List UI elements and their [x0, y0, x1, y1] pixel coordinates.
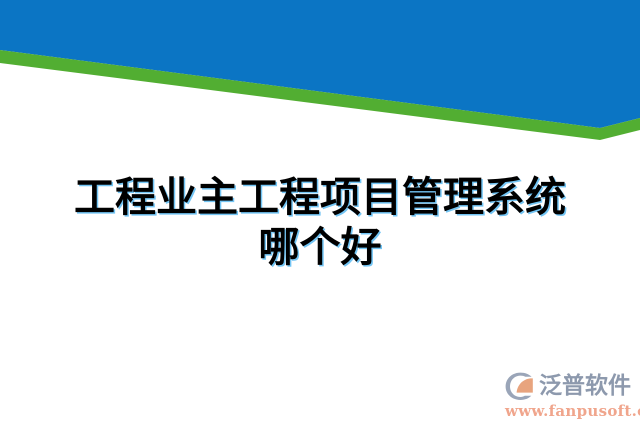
diagonal-banner	[0, 0, 640, 160]
title-line-2: 哪个好	[0, 222, 640, 272]
banner-green-stripe	[0, 50, 640, 140]
watermark: 泛普软件 www.fanpusoft.com	[504, 370, 640, 420]
watermark-brand-row: 泛普软件	[504, 370, 640, 402]
slide-canvas: 工程业主工程项目管理系统 哪个好 泛普软件 www.fanpusoft.com	[0, 0, 640, 427]
watermark-url-text: www.fanpusoft.com	[505, 403, 640, 420]
watermark-brand-text: 泛普软件	[539, 373, 631, 399]
banner-blue-shape	[0, 0, 640, 128]
page-title: 工程业主工程项目管理系统 哪个好	[0, 172, 640, 272]
title-line-1: 工程业主工程项目管理系统	[0, 172, 640, 222]
fanpu-swoosh-logo-icon	[504, 371, 537, 401]
